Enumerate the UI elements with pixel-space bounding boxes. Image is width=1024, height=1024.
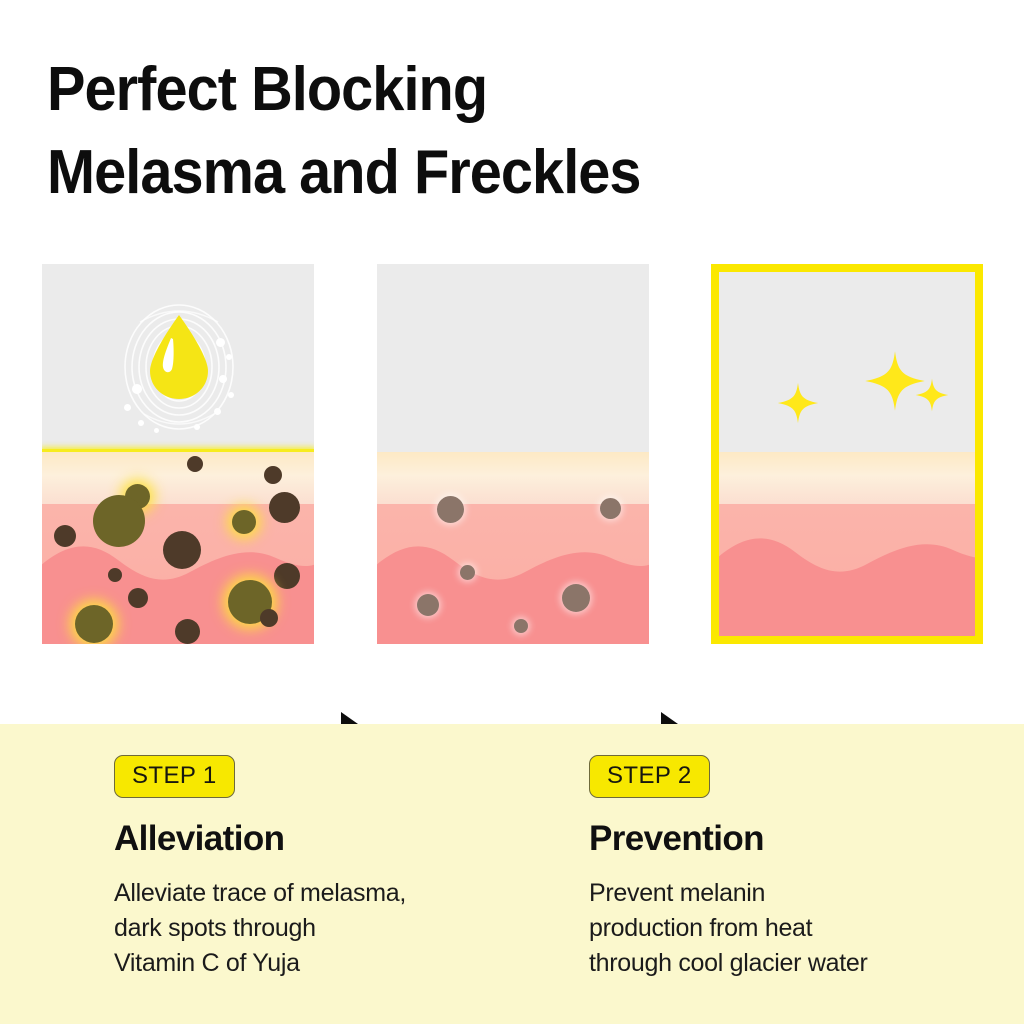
melanin-spot: [163, 531, 201, 569]
melanin-spot: [514, 619, 528, 633]
bubble: [228, 392, 234, 398]
illustration-row: [0, 264, 1024, 654]
step-block-1: STEP 1 Alleviation Alleviate trace of me…: [114, 755, 534, 981]
step-1-body: Alleviate trace of melasma, dark spots t…: [114, 876, 534, 981]
step-1-body-line: dark spots through: [114, 911, 534, 946]
page-title: Perfect Blocking Melasma and Freckles: [47, 48, 947, 214]
skin-panel-before: [42, 264, 314, 644]
step-2-body-line: production from heat: [589, 911, 1009, 946]
step-1-body-line: Vitamin C of Yuja: [114, 946, 534, 981]
melanin-spot: [128, 588, 148, 608]
bubble: [194, 424, 200, 430]
bubble: [219, 375, 227, 383]
step-2-heading: Prevention: [589, 818, 1009, 860]
melanin-spot: [562, 584, 590, 612]
step-2-badge: STEP 2: [589, 755, 710, 798]
deep-dermis-wave: [377, 514, 649, 644]
step-1-body-line: Alleviate trace of melasma,: [114, 876, 534, 911]
melanin-spot: [93, 495, 145, 547]
step-2-body-line: Prevent melanin: [589, 876, 1009, 911]
melanin-spot: [274, 563, 300, 589]
melanin-spot: [187, 456, 203, 472]
epidermis-layer: [377, 452, 649, 504]
melanin-spot: [175, 619, 200, 644]
sparkle-medium-icon: [777, 382, 819, 424]
page-title-line-1: Perfect Blocking: [47, 48, 884, 131]
step-2-body-line: through cool glacier water: [589, 946, 1009, 981]
skin-panel-after: [711, 264, 983, 644]
bubble: [216, 338, 225, 347]
bubble: [226, 354, 232, 360]
step-2-body: Prevent melanin production from heat thr…: [589, 876, 1009, 981]
sparkle-small-icon: [915, 378, 949, 412]
dermis-layer: [719, 504, 975, 636]
melanin-spot: [437, 496, 464, 523]
bubble: [124, 404, 131, 411]
yuja-oil-droplet-group: [120, 292, 238, 442]
bubble: [154, 428, 159, 433]
melanin-spot: [460, 565, 475, 580]
bubble: [138, 420, 144, 426]
melanin-spot: [75, 605, 113, 643]
melanin-spot: [269, 492, 300, 523]
bubble: [214, 408, 221, 415]
melanin-spot: [232, 510, 256, 534]
droplet-icon: [147, 314, 211, 400]
bubble: [132, 384, 142, 394]
air-region: [377, 264, 649, 452]
melanin-spot: [600, 498, 621, 519]
melanin-spot: [108, 568, 122, 582]
melanin-spot: [54, 525, 76, 547]
epidermis-layer: [719, 452, 975, 504]
steps-band: STEP 1 Alleviation Alleviate trace of me…: [0, 724, 1024, 1024]
deep-dermis-wave: [719, 506, 975, 636]
step-block-2: STEP 2 Prevention Prevent melanin produc…: [589, 755, 1009, 981]
melanin-spot: [260, 609, 278, 627]
step-1-badge: STEP 1: [114, 755, 235, 798]
skin-panel-during: [377, 264, 649, 644]
page-title-line-2: Melasma and Freckles: [47, 131, 884, 214]
melanin-spot: [264, 466, 282, 484]
dermis-layer: [377, 504, 649, 644]
air-region: [719, 272, 975, 452]
step-1-heading: Alleviation: [114, 818, 534, 860]
melanin-spot: [417, 594, 439, 616]
